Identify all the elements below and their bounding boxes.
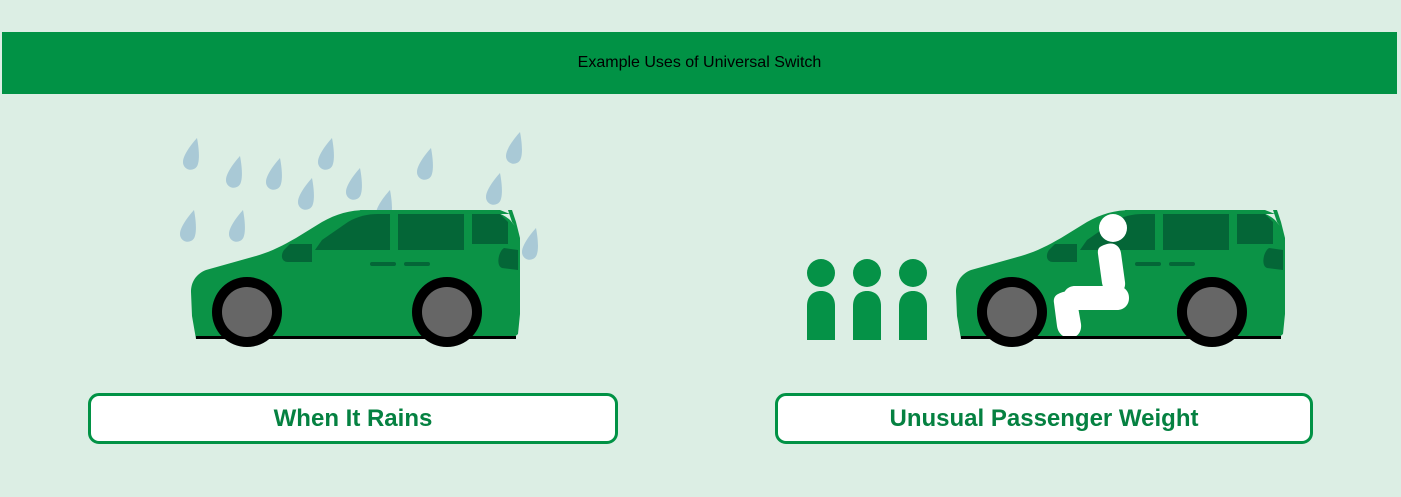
header-banner: Example Uses of Universal Switch bbox=[2, 32, 1397, 94]
wheel-icon bbox=[977, 277, 1047, 347]
person-icon bbox=[853, 259, 881, 340]
label-text: Unusual Passenger Weight bbox=[890, 405, 1199, 433]
wheel-icon bbox=[1177, 277, 1247, 347]
page-title: Example Uses of Universal Switch bbox=[578, 54, 822, 72]
label-button-unusual-passenger-weight[interactable]: Unusual Passenger Weight bbox=[775, 393, 1313, 444]
passengers-and-car-illustration bbox=[745, 110, 1365, 380]
panel-when-it-rains: When It Rains bbox=[60, 110, 680, 455]
person-icon bbox=[807, 259, 835, 340]
label-button-when-it-rains[interactable]: When It Rains bbox=[88, 393, 618, 444]
label-text: When It Rains bbox=[274, 405, 433, 433]
car-in-rain-illustration bbox=[60, 110, 680, 380]
minivan-icon bbox=[956, 210, 1285, 347]
person-icon bbox=[899, 259, 927, 340]
panel-unusual-passenger-weight: Unusual Passenger Weight bbox=[745, 110, 1365, 455]
